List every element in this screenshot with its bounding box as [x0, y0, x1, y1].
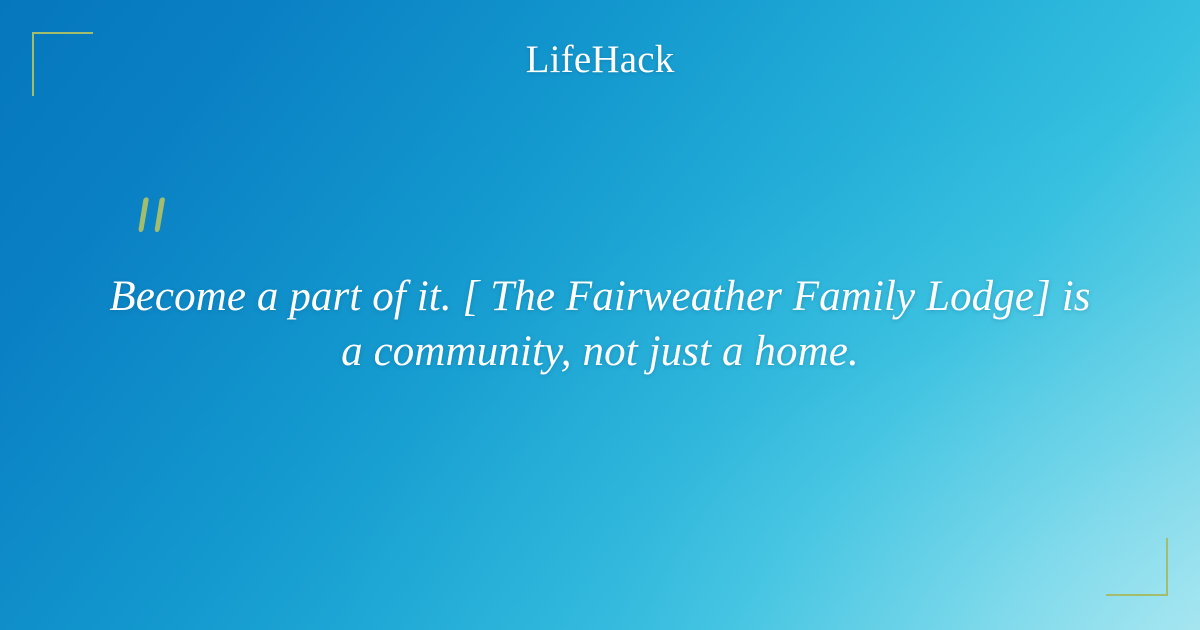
bracket-horizontal-line	[1106, 594, 1168, 596]
bracket-vertical-line	[1166, 538, 1168, 596]
quote-card: LifeHack Become a part of it. [ The Fair…	[0, 0, 1200, 630]
quote-mark-icon	[134, 196, 174, 242]
corner-bracket-bottom-right	[1106, 538, 1168, 596]
brand-logo: LifeHack	[0, 40, 1200, 79]
bracket-horizontal-line	[32, 32, 93, 34]
quote-text: Become a part of it. [ The Fairweather F…	[100, 270, 1100, 379]
